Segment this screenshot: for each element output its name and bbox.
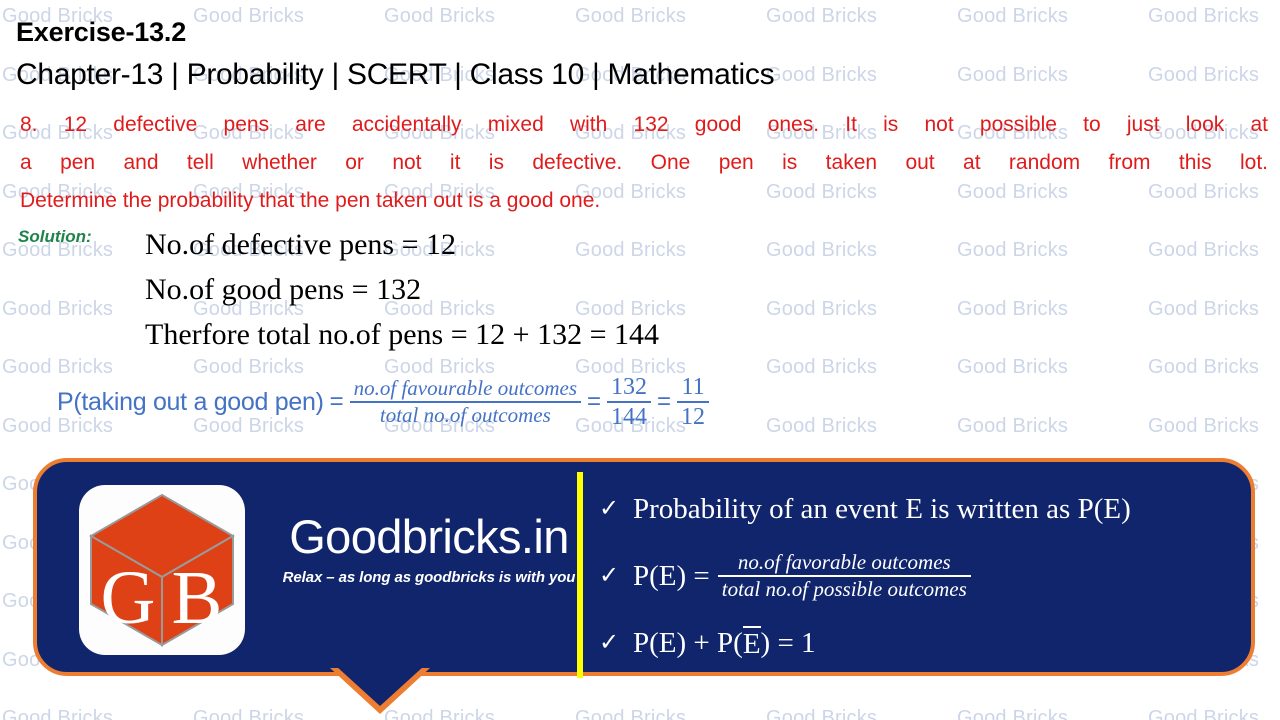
- question-line-2: a pen and tell whether or not it is defe…: [20, 144, 1268, 182]
- solution-step-3: Therfore total no.of pens = 12 + 132 = 1…: [145, 318, 659, 352]
- equation-equals-2: =: [587, 388, 601, 416]
- fact-item-2: ✓ P(E) = no.of favorable outcomes total …: [599, 538, 1249, 614]
- solution-step-2: No.of good pens = 132: [145, 273, 421, 307]
- solution-step-1: No.of defective pens = 12: [145, 228, 456, 262]
- equation-equals-3: =: [657, 388, 671, 416]
- fraction-numerator: no.of favourable outcomes: [350, 377, 581, 401]
- slide-canvas: Good BricksGood BricksGood BricksGood Br…: [0, 0, 1280, 720]
- fact-text: Probability of an event E is written as …: [633, 493, 1131, 526]
- fraction-numerator: 132: [607, 374, 651, 401]
- fraction-denominator: total no.of possible outcomes: [718, 577, 971, 601]
- check-icon: ✓: [599, 631, 633, 655]
- question-line-3: Determine the probability that the pen t…: [20, 182, 1268, 220]
- fraction-denominator: 12: [677, 403, 709, 430]
- equation-fraction-words: no.of favourable outcomes total no.of ou…: [350, 377, 581, 427]
- brand-text-group: Goodbricks.in Relax – as long as goodbri…: [259, 512, 599, 586]
- fact-lead: P(E) =: [633, 560, 710, 593]
- probability-facts-list: ✓ Probability of an event E is written a…: [599, 480, 1249, 672]
- chapter-breadcrumb: Chapter-13 | Probability | SCERT | Class…: [16, 58, 774, 92]
- question-text: 8. 12 defective pens are accidentally mi…: [20, 106, 1268, 220]
- banner-notch-fill: [336, 666, 424, 706]
- probability-equation: P(taking out a good pen) = no.of favoura…: [57, 374, 709, 431]
- fact-fraction: no.of favorable outcomes total no.of pos…: [718, 551, 971, 601]
- brand-banner: G B Goodbricks.in Relax – as long as goo…: [33, 458, 1255, 676]
- question-line-1: 8. 12 defective pens are accidentally mi…: [20, 106, 1268, 144]
- fraction-denominator: 144: [607, 403, 651, 430]
- fact-text-part-a: P(E) + P(: [633, 627, 743, 660]
- logo-letter-g: G: [101, 556, 156, 640]
- fact-text-part-b: ) = 1: [761, 627, 816, 660]
- fraction-denominator: total no.of outcomes: [376, 403, 555, 427]
- fact-item-1: ✓ Probability of an event E is written a…: [599, 480, 1249, 538]
- equation-lhs: P(taking out a good pen): [57, 388, 324, 417]
- banner-divider: [577, 472, 583, 678]
- brand-tagline: Relax – as long as goodbricks is with yo…: [259, 569, 599, 586]
- cube-icon: G B: [87, 491, 237, 649]
- fact-complement-symbol: E: [743, 626, 761, 661]
- goodbricks-logo: G B: [79, 485, 245, 655]
- fraction-numerator: 11: [677, 374, 708, 401]
- fraction-numerator: no.of favorable outcomes: [734, 551, 955, 575]
- brand-name: Goodbricks.in: [259, 512, 599, 561]
- equation-fraction-132-144: 132 144: [607, 374, 651, 431]
- fact-item-3: ✓ P(E) + P( E ) = 1: [599, 614, 1249, 672]
- solution-label: Solution:: [18, 227, 92, 247]
- check-icon: ✓: [599, 564, 633, 588]
- logo-letter-b: B: [172, 556, 223, 640]
- check-icon: ✓: [599, 497, 633, 521]
- equation-fraction-11-12: 11 12: [677, 374, 709, 431]
- exercise-title: Exercise-13.2: [16, 17, 186, 48]
- equation-equals-1: =: [330, 388, 344, 416]
